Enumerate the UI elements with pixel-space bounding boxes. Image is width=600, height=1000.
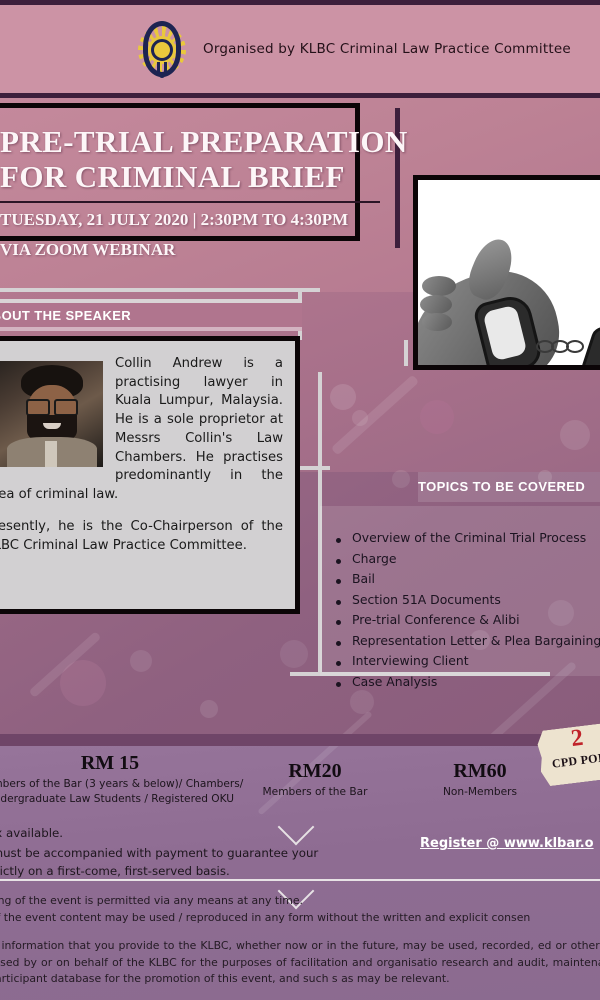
bullet-icon xyxy=(336,620,341,625)
speaker-section-heading: ABOUT THE SPEAKER xyxy=(0,308,302,323)
bullet-icon xyxy=(336,600,341,605)
guide-line-vertical xyxy=(404,340,408,366)
organiser-label: Organised by KLBC Criminal Law Practice … xyxy=(203,41,571,57)
fee-divider-strip xyxy=(0,734,600,746)
register-link[interactable]: Register @ www.klbar.o xyxy=(420,836,600,851)
bullet-icon xyxy=(336,661,341,666)
fee-tier: RM60 Non-Members xyxy=(400,760,560,800)
finger-shape xyxy=(422,313,452,331)
registration-capacity-line: 90 pax available. xyxy=(0,823,428,844)
handcuff-chain xyxy=(536,340,592,354)
capacity-suffix: pax available. xyxy=(0,826,63,840)
fee-tier: RM 15 Members of the Bar (3 years & belo… xyxy=(0,752,275,808)
disclaimer-privacy-paragraph: rsonal information that you provide to t… xyxy=(0,938,600,988)
finger-shape xyxy=(422,276,456,296)
topic-label: Pre-trial Conference & Alibi xyxy=(352,614,520,626)
fee-amount: RM 15 xyxy=(0,752,275,775)
event-platform: VIA ZOOM WEBINAR xyxy=(0,233,420,263)
topic-item: Charge xyxy=(336,553,600,574)
topic-label: Interviewing Client xyxy=(352,655,469,667)
bullet-icon xyxy=(336,641,341,646)
eyeglasses-icon xyxy=(26,399,78,412)
fee-caption: Members of the Bar (3 years & below)/ Ch… xyxy=(0,777,275,808)
fee-amount: RM60 xyxy=(400,760,560,783)
event-title-line-1: PRE-TRIAL PREPARATION xyxy=(0,125,420,160)
bullet-icon xyxy=(336,682,341,687)
event-date-time: TUESDAY, 21 JULY 2020 | 2:30PM TO 4:30PM xyxy=(0,203,420,233)
disclaimer-recording-line-2: part of the event content may be used / … xyxy=(0,910,600,927)
speaker-bio-paragraph: Presently, he is the Co-Chairperson of t… xyxy=(0,518,283,555)
topic-item: Section 51A Documents xyxy=(336,594,600,615)
topic-item: Overview of the Criminal Trial Process xyxy=(336,532,600,553)
registration-basis-line: and strictly on a first-come, first-serv… xyxy=(0,862,428,880)
topic-item: Interviewing Client xyxy=(336,655,600,676)
topic-label: Case Analysis xyxy=(352,676,437,688)
klbc-crest-icon xyxy=(135,18,189,80)
topic-label: Overview of the Criminal Trial Process xyxy=(352,532,586,544)
topic-item: Representation Letter & Plea Bargaining xyxy=(336,635,600,656)
cpd-points-value: 2 xyxy=(570,725,585,753)
bullet-icon xyxy=(336,538,341,543)
topics-section-heading: TOPICS TO BE COVERED xyxy=(418,479,600,494)
disclaimer-recording-line-1: ecording of the event is permitted via a… xyxy=(0,893,600,910)
topics-list: Overview of the Criminal Trial ProcessCh… xyxy=(336,532,600,696)
cpd-points-badge: 2 CPD POINTS xyxy=(536,721,600,787)
bullet-icon xyxy=(336,579,341,584)
registration-notes: 90 pax available. ation must be accompan… xyxy=(0,823,428,880)
guide-line-horizontal xyxy=(0,288,320,292)
topic-label: Charge xyxy=(352,553,396,565)
fee-tier: RM20 Members of the Bar xyxy=(235,760,395,800)
poster-header: Organised by KLBC Criminal Law Practice … xyxy=(0,5,600,93)
speaker-portrait xyxy=(0,361,103,467)
header-divider-strip xyxy=(0,93,600,98)
topic-item: Pre-trial Conference & Alibi xyxy=(336,614,600,635)
speaker-card: Collin Andrew is a practising lawyer in … xyxy=(0,336,300,614)
fee-amount: RM20 xyxy=(235,760,395,783)
topic-label: Section 51A Documents xyxy=(352,594,501,606)
fee-caption: Members of the Bar xyxy=(235,785,395,800)
registration-payment-line: ation must be accompanied with payment t… xyxy=(0,844,428,862)
bullet-icon xyxy=(336,559,341,564)
disclaimer: ecording of the event is permitted via a… xyxy=(0,893,600,988)
topic-item: Case Analysis xyxy=(336,676,600,697)
topic-label: Bail xyxy=(352,573,375,585)
handcuffed-wrist-photo xyxy=(413,175,600,370)
title-block: PRE-TRIAL PREPARATION FOR CRIMINAL BRIEF… xyxy=(0,125,420,263)
webinar-poster: Organised by KLBC Criminal Law Practice … xyxy=(0,0,600,1000)
finger-shape xyxy=(420,295,452,314)
fee-caption: Non-Members xyxy=(400,785,560,800)
event-title-line-2: FOR CRIMINAL BRIEF xyxy=(0,160,420,195)
topic-item: Bail xyxy=(336,573,600,594)
topic-label: Representation Letter & Plea Bargaining xyxy=(352,635,600,647)
